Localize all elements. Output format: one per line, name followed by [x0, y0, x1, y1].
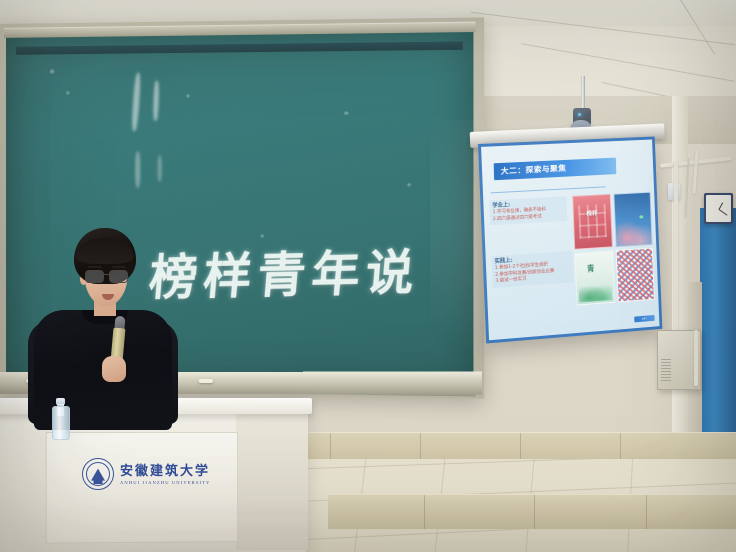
- slide-title-bar: 大二：探索与聚焦: [494, 158, 617, 181]
- glasses-lens-right: [109, 270, 128, 283]
- university-name-en: ANHUI JIANZHU UNIVERSITY: [120, 480, 210, 485]
- blackboard-top-shadow: [16, 41, 463, 54]
- glasses-lens-left: [85, 270, 104, 283]
- lectern-side-panel: [236, 400, 308, 550]
- chalk-dot: [186, 94, 189, 97]
- slide-badge-text: PPT: [642, 317, 647, 320]
- speaker-eyebrow: [88, 266, 102, 268]
- presentation-slide: 大二：探索与聚焦 学业上: 1.学习专业课，确表不挂科 2.四六级通过四六级考试…: [481, 139, 659, 340]
- chalk-dot: [50, 69, 54, 73]
- chalk-dot: [407, 183, 410, 186]
- speaker-hand: [102, 356, 126, 382]
- bottle-body: [52, 406, 70, 440]
- platform-edge: [270, 432, 736, 459]
- blackboard-chalk-title: 榜样青年说: [147, 233, 403, 308]
- platform-seam: [620, 433, 621, 459]
- projection-screen: 大二：探索与聚焦 学业上: 1.学习专业课，确表不挂科 2.四六级通过四六级考试…: [478, 136, 662, 343]
- classroom-photo: 榜样青年说 大二：探索与聚焦 学业上: 1.学习专业课，确表不挂科 2.四六级通…: [0, 0, 736, 552]
- speaker-hair-fringe: [76, 238, 134, 264]
- photo-caption: 青: [587, 263, 595, 274]
- chalk-piece: [199, 379, 213, 383]
- seal-base-shape: [94, 478, 103, 484]
- ceiling-panel-line: [522, 43, 735, 81]
- platform-seam: [520, 433, 521, 459]
- slide-section-academic: 学业上: 1.学习专业课，确表不挂科 2.四六级通过四六级考试: [489, 196, 567, 225]
- wall-clock: [704, 193, 733, 224]
- university-logo: 安徽建筑大学 ANHUI JIANZHU UNIVERSITY: [82, 458, 210, 490]
- slide-corner-badge: PPT: [634, 315, 654, 322]
- wall-conduit: [674, 162, 678, 332]
- platform-seam: [420, 433, 421, 459]
- slide-section-practice: 实践上: 1.参加1-2个社团/学生组织 2.参加学科竞赛/创新创业比赛 3.尝…: [491, 251, 573, 288]
- eyeglasses-icon: [85, 270, 127, 281]
- water-bottle: [52, 398, 68, 440]
- slide-photo-crowd-confetti: [615, 247, 655, 302]
- step-seam: [424, 495, 425, 529]
- chalk-smudge: [158, 155, 162, 181]
- slide-photo-calligraphy-green: 青: [574, 250, 614, 306]
- platform-seam: [330, 433, 331, 459]
- platform-step-riser: [328, 494, 736, 529]
- chalk-dot: [66, 91, 69, 94]
- cabinet-conduit: [694, 330, 698, 386]
- chalk-smudge: [131, 72, 141, 131]
- university-name-cn: 安徽建筑大学: [120, 464, 210, 479]
- step-seam: [534, 495, 535, 529]
- step-seam: [646, 495, 647, 529]
- photo-caption: 榜样: [586, 210, 598, 218]
- slide-title-text: 大二：探索与聚焦: [494, 163, 567, 177]
- blue-door[interactable]: [700, 208, 736, 456]
- glasses-bridge: [102, 274, 109, 275]
- chalk-dot: [344, 112, 348, 115]
- slide-photo-grid: 榜样 青: [572, 192, 655, 306]
- clock-face: [706, 195, 731, 222]
- chalk-smudge: [135, 151, 140, 187]
- speaker: [28, 228, 178, 428]
- slide-photo-banner-red: 榜样: [572, 194, 612, 249]
- chalk-smudge: [153, 80, 160, 121]
- slide-photo-night-blue: [613, 192, 653, 247]
- speaker-eyebrow: [112, 266, 126, 268]
- slide-title-underline: [491, 186, 606, 193]
- cabinet-vent: [661, 357, 671, 381]
- projector-led-icon: [578, 113, 581, 116]
- university-seal-icon: [82, 458, 114, 490]
- photo-highlight-dot: [639, 215, 643, 218]
- university-name-block: 安徽建筑大学 ANHUI JIANZHU UNIVERSITY: [120, 464, 210, 485]
